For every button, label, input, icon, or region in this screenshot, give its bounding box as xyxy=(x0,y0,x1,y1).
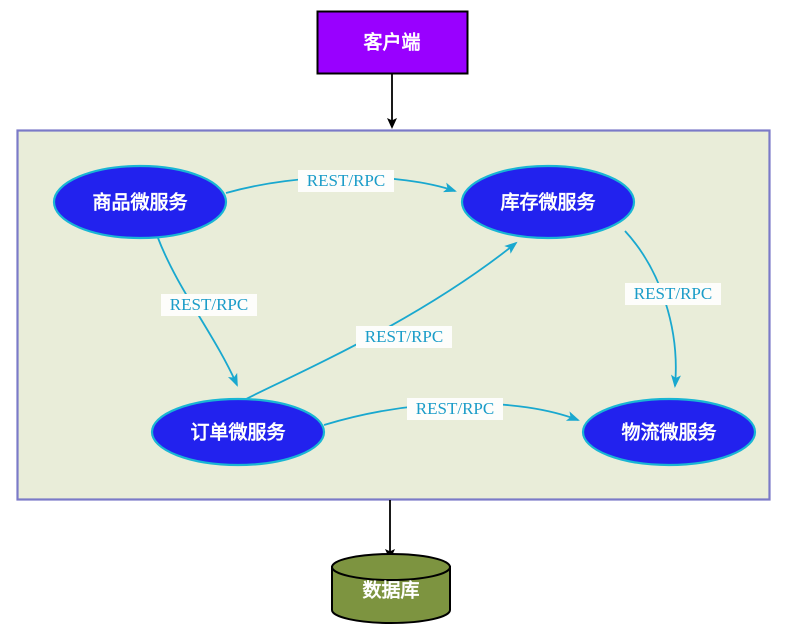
edge-label-text: REST/RPC xyxy=(416,399,494,418)
microservice-architecture-diagram: 客户端 商品微服务 库存微服务 订单微服务 物流微服务 xyxy=(0,0,795,632)
service-node-inventory[interactable]: 库存微服务 xyxy=(462,166,634,238)
edge-label-text: REST/RPC xyxy=(170,295,248,314)
edge-label-text: REST/RPC xyxy=(365,327,443,346)
service-label-product: 商品微服务 xyxy=(92,191,188,214)
edge-label-product-to-inventory: REST/RPC xyxy=(298,170,394,192)
service-node-logistics[interactable]: 物流微服务 xyxy=(583,399,755,465)
edge-label-inventory-to-logistics: REST/RPC xyxy=(625,283,721,305)
service-label-order: 订单微服务 xyxy=(190,421,286,444)
database-top xyxy=(332,554,450,580)
edge-label-product-to-order: REST/RPC xyxy=(161,294,257,316)
service-node-order[interactable]: 订单微服务 xyxy=(152,399,324,465)
client-label: 客户端 xyxy=(363,31,420,54)
database-node[interactable]: 数据库 xyxy=(332,554,450,623)
service-label-inventory: 库存微服务 xyxy=(500,191,596,214)
diagram-canvas: 客户端 商品微服务 库存微服务 订单微服务 物流微服务 xyxy=(0,0,795,632)
database-label: 数据库 xyxy=(362,579,419,602)
edge-label-order-to-inventory: REST/RPC xyxy=(356,326,452,348)
service-node-product[interactable]: 商品微服务 xyxy=(54,166,226,238)
edge-label-text: REST/RPC xyxy=(634,284,712,303)
edge-label-order-to-logistics: REST/RPC xyxy=(407,398,503,420)
service-label-logistics: 物流微服务 xyxy=(621,421,717,444)
edge-label-text: REST/RPC xyxy=(307,171,385,190)
